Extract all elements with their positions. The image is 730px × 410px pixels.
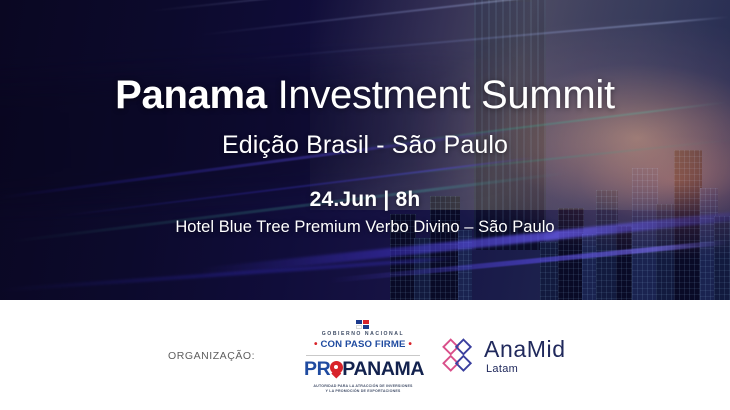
slogan-text: CON PASO FIRME <box>320 339 405 350</box>
bullet-right-icon: • <box>408 339 412 350</box>
title-light-part: Investment Summit <box>267 73 615 117</box>
propanama-wordmark: PRPANAMA <box>304 360 422 380</box>
con-paso-firme-text: • CON PASO FIRME • <box>304 340 422 350</box>
title-bold-part: Panama <box>115 73 267 117</box>
anamid-logo[interactable]: AnaMid Latam <box>438 336 566 376</box>
anamid-diamond-mark-icon <box>438 336 478 376</box>
gobierno-nacional-text: GOBIERNO NACIONAL <box>304 332 422 337</box>
anamid-text-block: AnaMid Latam <box>484 338 566 375</box>
panama-flag-icon <box>356 320 371 330</box>
bullet-left-icon: • <box>314 339 318 350</box>
page-title: Panama Investment Summit <box>0 74 730 116</box>
anamid-brand-name: AnaMid <box>484 338 566 361</box>
footer-sponsors: ORGANIZAÇÃO: GOBIERNO NACIONAL • CON PAS… <box>0 300 730 410</box>
location-pin-icon <box>330 361 343 378</box>
event-venue: Hotel Blue Tree Premium Verbo Divino – S… <box>0 218 730 237</box>
organization-label: ORGANIZAÇÃO: <box>168 350 255 362</box>
anamid-region-label: Latam <box>486 364 566 375</box>
tagline-line-2: Y LA PROMOCIÓN DE EXPORTACIONES <box>304 389 422 395</box>
event-poster: Panama Investment Summit Edição Brasil -… <box>0 0 730 410</box>
logo-divider <box>306 355 420 356</box>
panama-text: PANAMA <box>342 358 424 380</box>
pro-text: PR <box>304 358 330 380</box>
event-date: 24.Jun | 8h <box>0 188 730 212</box>
banner-hero: Panama Investment Summit Edição Brasil -… <box>0 0 730 300</box>
banner-text-block: Panama Investment Summit Edição Brasil -… <box>0 0 730 300</box>
event-subtitle: Edição Brasil - São Paulo <box>0 131 730 160</box>
propanama-tagline: AUTORIDAD PARA LA ATRACCIÓN DE INVERSION… <box>304 384 422 395</box>
propanama-logo[interactable]: GOBIERNO NACIONAL • CON PASO FIRME • PRP… <box>304 320 422 395</box>
